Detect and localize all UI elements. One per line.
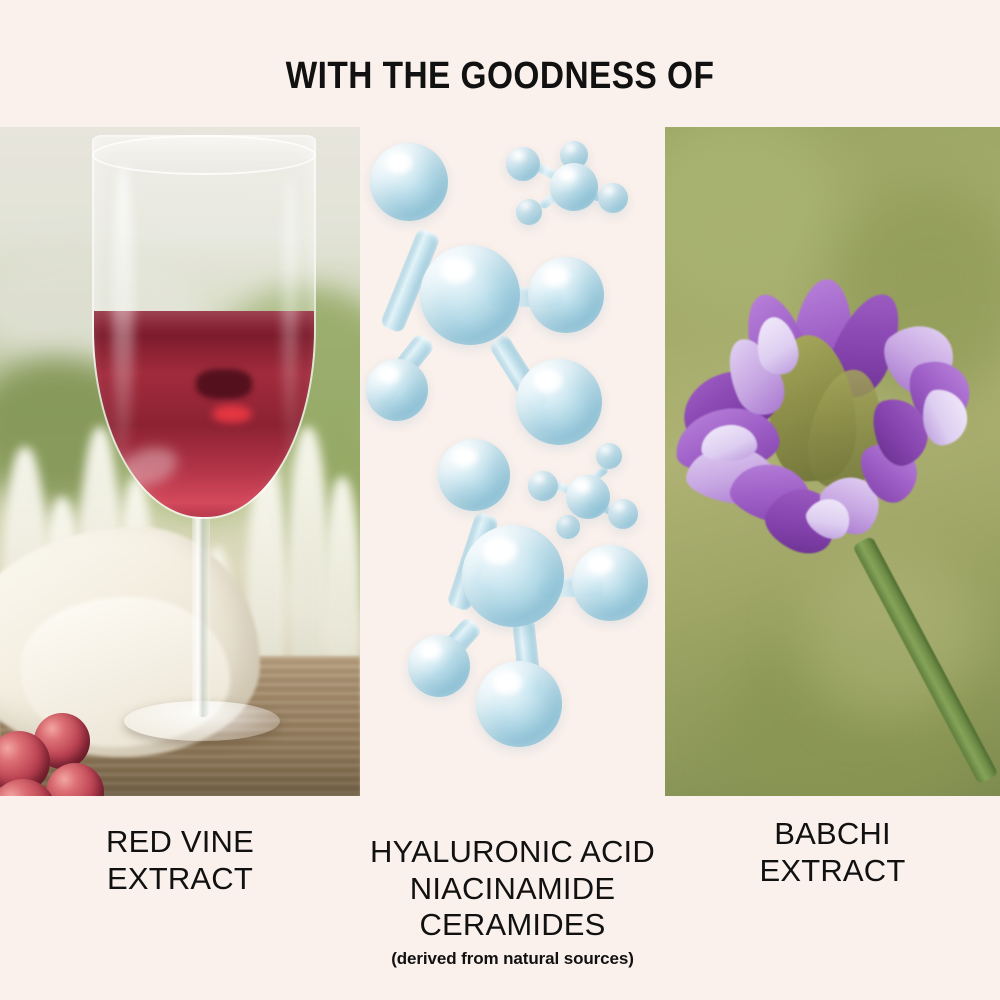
molecule-atom: [506, 147, 540, 181]
babchi-flower-head: [671, 277, 981, 577]
glass-bowl: [92, 135, 316, 519]
molecule-atom: [528, 471, 558, 501]
molecule-atom: [556, 515, 580, 539]
wine-highlight: [212, 405, 252, 423]
molecule-atom: [516, 199, 542, 225]
molecule-atom: [608, 499, 638, 529]
molecule-atom: [516, 359, 602, 445]
glass-highlight: [282, 177, 298, 457]
glass-highlight: [112, 163, 134, 463]
caption-subtitle: (derived from natural sources): [330, 949, 695, 969]
image-panel-row: [0, 127, 1000, 796]
molecule-atom: [572, 545, 648, 621]
molecule-atom: [370, 143, 448, 221]
page-title: WITH THE GOODNESS OF: [60, 55, 940, 98]
molecule-atom: [420, 245, 520, 345]
molecule-atom: [550, 163, 598, 211]
wine-shadow: [196, 369, 252, 399]
molecule-atom: [438, 439, 510, 511]
caption-babchi: BABCHI EXTRACT: [665, 816, 1000, 889]
caption-title: HYALURONIC ACID NIACINAMIDE CERAMIDES: [330, 834, 695, 944]
molecule-illustration: [360, 127, 665, 796]
molecule-atom: [366, 359, 428, 421]
molecule-atom: [596, 443, 622, 469]
wine-scene-photo: [0, 127, 360, 796]
image-panel-red-vine: [0, 127, 360, 796]
molecule-atom: [598, 183, 628, 213]
molecule-atom: [528, 257, 604, 333]
molecule-atom: [566, 475, 610, 519]
caption-actives: HYALURONIC ACID NIACINAMIDE CERAMIDES (d…: [330, 834, 695, 969]
wine-glass: [92, 135, 312, 795]
image-panel-babchi: [665, 127, 1000, 796]
molecule-atom: [462, 525, 564, 627]
ingredients-banner: WITH THE GOODNESS OF: [0, 0, 1000, 1000]
grape-cluster: [0, 707, 170, 796]
caption-title: BABCHI EXTRACT: [665, 816, 1000, 889]
babchi-photo: [665, 127, 1000, 796]
caption-row: RED VINE EXTRACT HYALURONIC ACID NIACINA…: [0, 796, 1000, 1000]
glass-rim: [92, 135, 316, 175]
molecule-atom: [476, 661, 562, 747]
caption-red-vine: RED VINE EXTRACT: [0, 824, 360, 897]
molecule-atom: [408, 635, 470, 697]
glass-stem: [192, 507, 210, 717]
caption-title: RED VINE EXTRACT: [0, 824, 360, 897]
image-panel-actives: [360, 127, 665, 796]
